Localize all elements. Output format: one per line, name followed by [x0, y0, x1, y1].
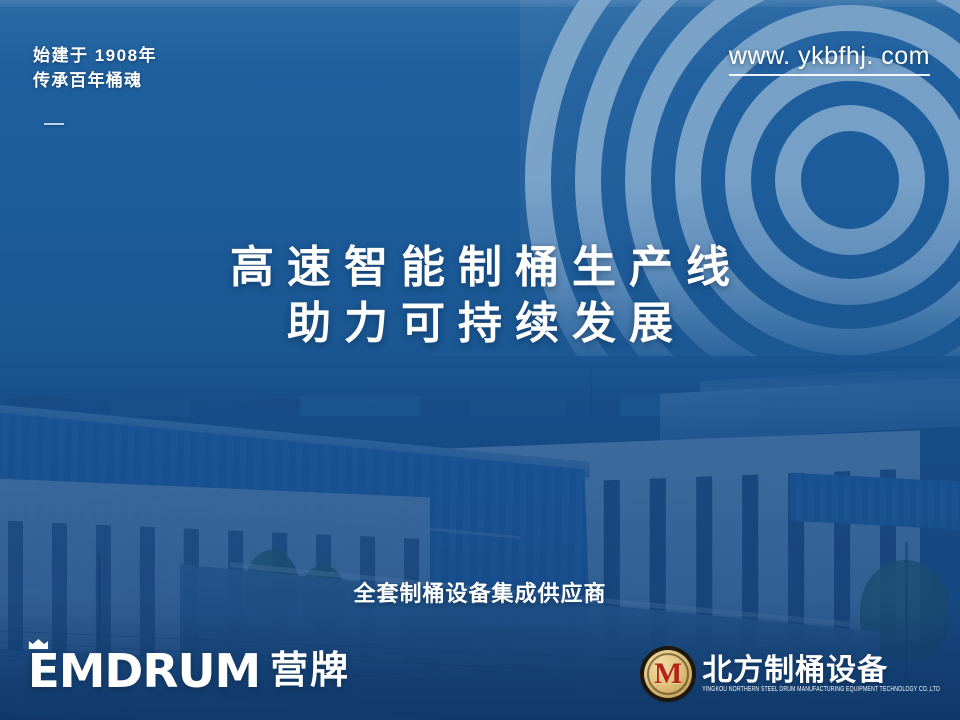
company-tagline: 始建于 1908年传承百年桶魂: [33, 44, 157, 93]
emdrum-chinese-name: 营牌: [270, 652, 350, 690]
emdrum-wordmark-text: EMDRUM: [28, 644, 260, 698]
tagline-line-1: 始建于 1908年: [33, 46, 157, 65]
northern-drum-logo: M 北方制桶设备 YINGKOU NORTHERN STEEL DRUM MAN…: [644, 650, 940, 698]
tagline-line-2: 传承百年桶魂: [33, 71, 142, 90]
headline-line-2: 助力可持续发展: [0, 296, 960, 352]
northern-drum-text: 北方制桶设备 YINGKOU NORTHERN STEEL DRUM MANUF…: [702, 655, 940, 694]
emdrum-logo: EMDRUM 营牌: [30, 648, 350, 694]
medallion-letter: M: [654, 659, 682, 689]
website-url[interactable]: www. ykbfhj. com: [729, 42, 930, 76]
medallion-icon: M: [644, 650, 692, 698]
crown-accent-icon: [29, 639, 48, 649]
subtitle: 全套制桶设备集成供应商: [0, 576, 960, 608]
northern-drum-english-name: YINGKOU NORTHERN STEEL DRUM MANUFACTURIN…: [702, 687, 940, 694]
emdrum-wordmark: EMDRUM: [28, 648, 260, 694]
tagline-divider-dash: [44, 123, 64, 125]
headline-line-1: 高速智能制桶生产线: [0, 240, 960, 296]
headline: 高速智能制桶生产线 助力可持续发展: [0, 240, 960, 353]
slide-canvas: 始建于 1908年传承百年桶魂 www. ykbfhj. com 高速智能制桶生…: [0, 0, 960, 720]
northern-drum-chinese-name: 北方制桶设备: [702, 655, 940, 687]
